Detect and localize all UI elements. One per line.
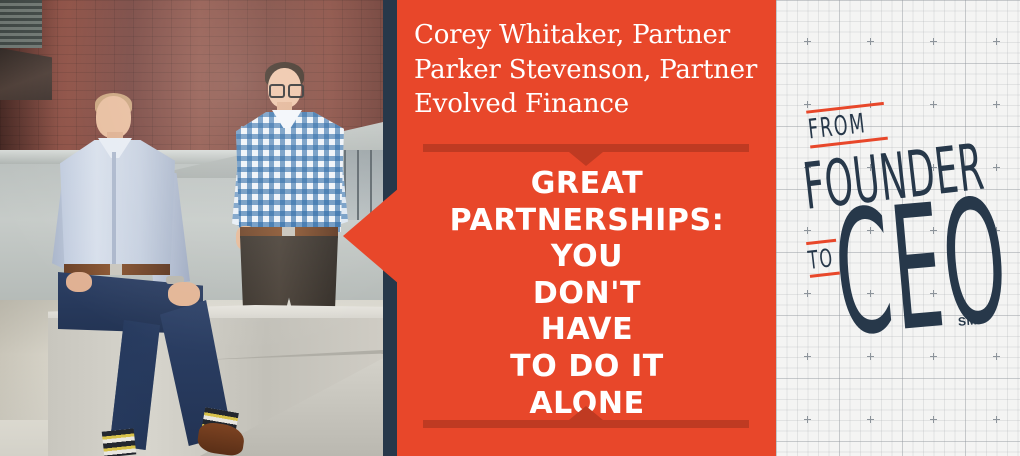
grid-cross-mark: [804, 38, 811, 45]
logo-panel: FROM FOUNDER TO CEO SM: [776, 0, 1020, 456]
podcast-banner: Corey Whitaker, Partner Parker Stevenson…: [0, 0, 1020, 456]
grid-cross-mark: [804, 353, 811, 360]
eyeglasses-left-lens-icon: [269, 84, 285, 98]
seated-man-belt-buckle: [110, 264, 122, 275]
grid-cross-mark: [993, 416, 1000, 423]
seated-man-left-hand: [66, 272, 92, 292]
grid-cross-mark: [993, 38, 1000, 45]
standing-man-checkered-shirt: [236, 112, 344, 232]
seated-man-shirt-placket: [112, 152, 116, 264]
seated-man-dress-shirt: [60, 140, 175, 270]
seated-man-right-hand: [168, 282, 200, 306]
eyeglasses-right-lens-icon: [288, 84, 304, 98]
logo-word-ceo: CEO: [829, 176, 1015, 361]
seated-man-striped-sock-left: [102, 428, 137, 456]
speakers-photo: [0, 0, 383, 456]
speaker-credits: Corey Whitaker, Partner Parker Stevenson…: [414, 18, 764, 122]
logo-word-from: FROM: [807, 110, 868, 143]
orange-content-panel: Corey Whitaker, Partner Parker Stevenson…: [397, 0, 776, 456]
grid-cross-mark: [930, 38, 937, 45]
bottom-divider-bar: [423, 420, 749, 428]
chevron-down-icon: [569, 152, 603, 166]
episode-title: GREAT PARTNERSHIPS: YOU DON'T HAVE TO DO…: [407, 166, 767, 422]
grid-cross-mark: [930, 416, 937, 423]
grid-cross-mark: [804, 416, 811, 423]
from-founder-to-ceo-logo: FROM FOUNDER TO CEO SM: [790, 96, 1006, 346]
logo-service-mark: SM: [957, 313, 977, 329]
wall-vent: [0, 0, 42, 48]
grid-cross-mark: [867, 38, 874, 45]
grid-cross-mark: [867, 416, 874, 423]
top-divider-bar: [423, 144, 749, 152]
logo-word-to: TO: [807, 245, 835, 273]
